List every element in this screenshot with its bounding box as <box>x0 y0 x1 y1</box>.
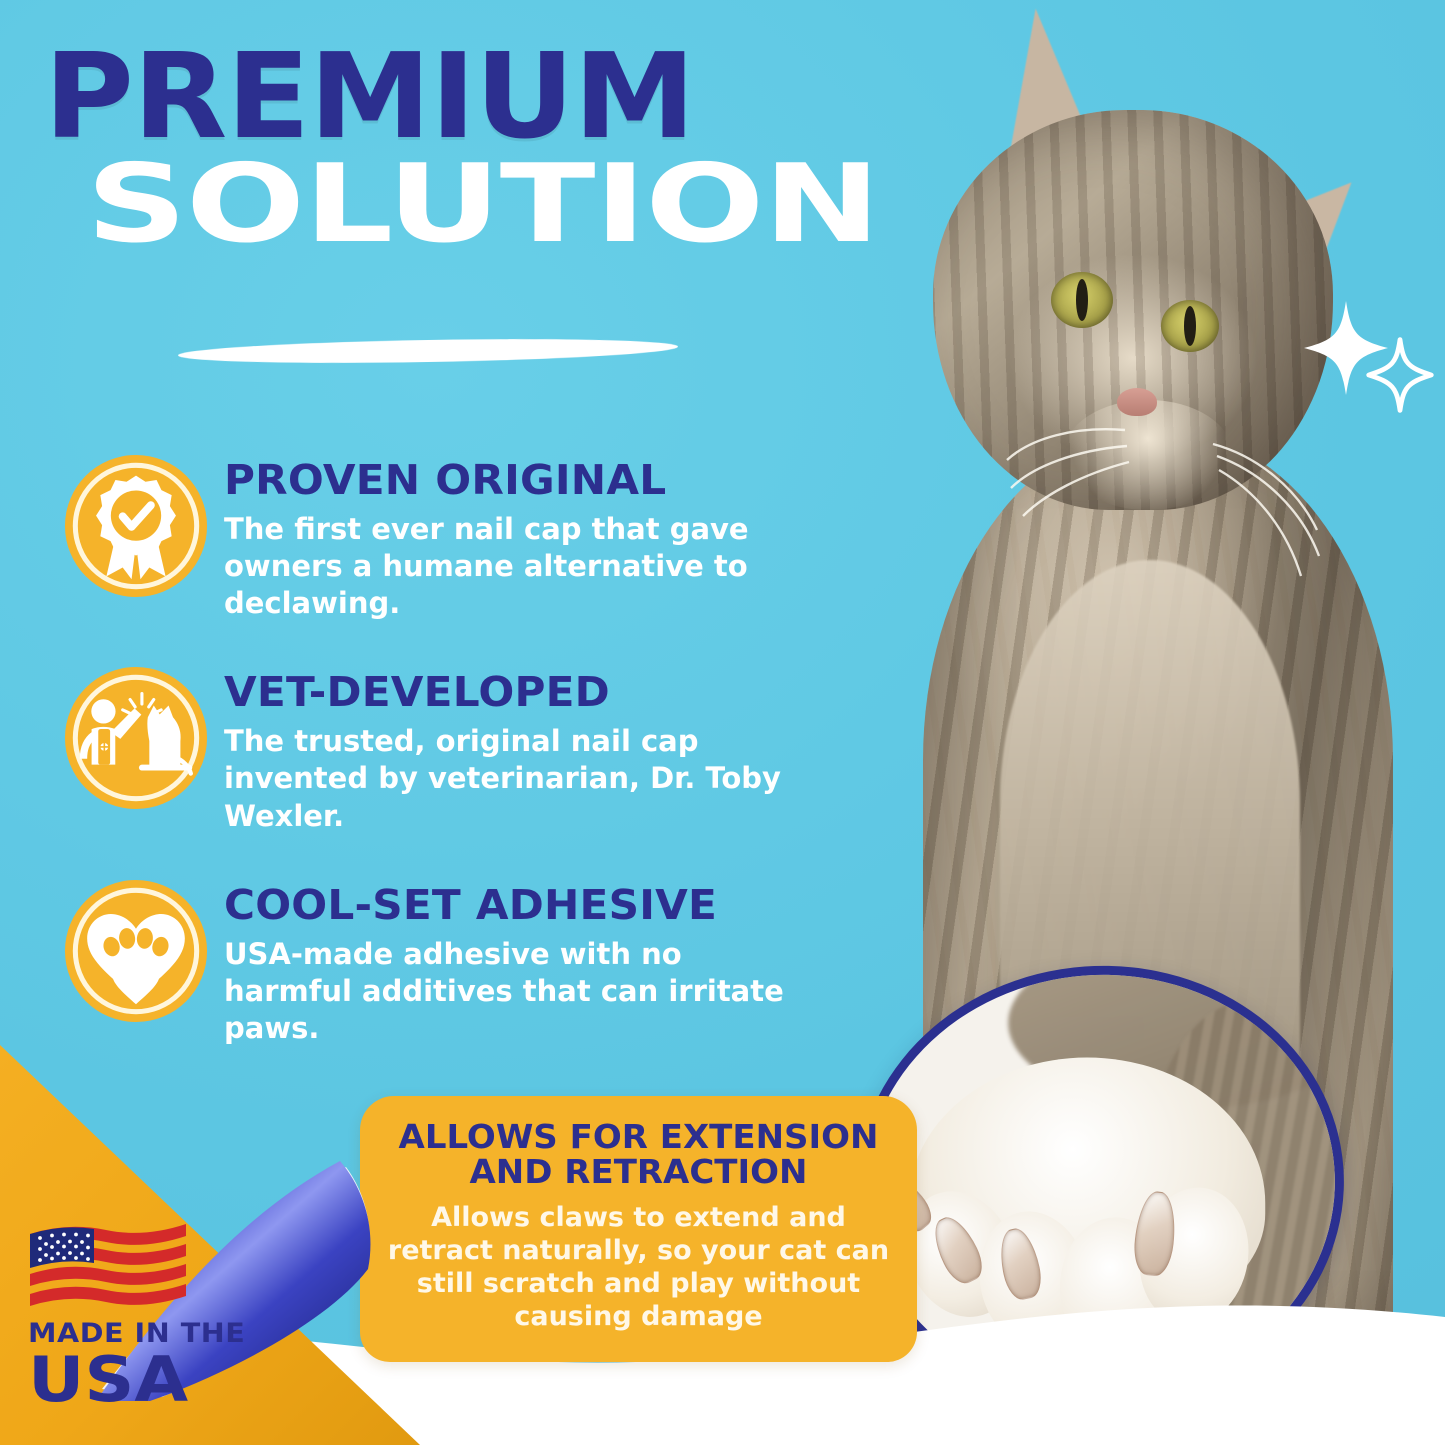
product-infographic: PREMIUM SOLUTION PROVEN ORI <box>0 0 1445 1445</box>
callout-body: Allows claws to extend and retract natur… <box>386 1202 891 1334</box>
feature-item: VET-DEVELOPED The trusted, original nail… <box>62 662 852 834</box>
usa-text: USA <box>28 1349 286 1411</box>
feature-text: VET-DEVELOPED The trusted, original nail… <box>224 662 804 834</box>
cat-eye-right <box>1161 300 1219 352</box>
feature-description: The first ever nail cap that gave owners… <box>224 511 804 622</box>
extension-retraction-callout: ALLOWS FOR EXTENSION AND RETRACTION Allo… <box>360 1096 917 1362</box>
headline: PREMIUM SOLUTION <box>44 46 834 252</box>
feature-title: VET-DEVELOPED <box>224 672 821 713</box>
feature-list: PROVEN ORIGINAL The first ever nail cap … <box>62 450 852 1087</box>
headline-line-1: PREMIUM <box>44 46 866 147</box>
cat-nose <box>1117 388 1157 416</box>
feature-item: COOL-SET ADHESIVE USA-made adhesive with… <box>62 875 852 1047</box>
feature-description: The trusted, original nail cap invented … <box>224 723 804 834</box>
usa-flag-icon <box>28 1214 188 1310</box>
cat-muzzle <box>1063 400 1233 510</box>
headline-line-2: SOLUTION <box>86 159 1058 252</box>
feature-title: COOL-SET ADHESIVE <box>224 885 821 926</box>
made-in-usa-badge: MADE IN THE USA <box>28 1214 258 1411</box>
cat-eye-left <box>1051 272 1113 328</box>
award-ribbon-check-icon <box>62 452 210 600</box>
feature-text: PROVEN ORIGINAL The first ever nail cap … <box>224 450 804 622</box>
vet-highfive-cat-icon <box>62 664 210 812</box>
feature-item: PROVEN ORIGINAL The first ever nail cap … <box>62 450 852 622</box>
heart-paw-icon <box>62 877 210 1025</box>
feature-description: USA-made adhesive with no harmful additi… <box>224 936 804 1047</box>
callout-title: ALLOWS FOR EXTENSION AND RETRACTION <box>378 1120 898 1190</box>
feature-text: COOL-SET ADHESIVE USA-made adhesive with… <box>224 875 804 1047</box>
feature-title: PROVEN ORIGINAL <box>224 460 821 501</box>
